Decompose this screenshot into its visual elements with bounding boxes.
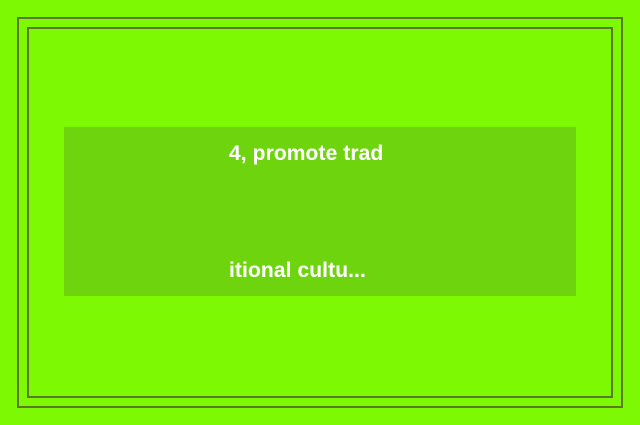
screen-canvas: 4, promote trad itional cultu... — [0, 0, 640, 425]
panel-text-line-2: itional cultu... — [229, 251, 383, 290]
content-panel[interactable]: 4, promote trad itional cultu... — [64, 127, 576, 296]
panel-text-block: 4, promote trad itional cultu... — [229, 56, 383, 368]
panel-text-line-1: 4, promote trad — [229, 134, 383, 173]
